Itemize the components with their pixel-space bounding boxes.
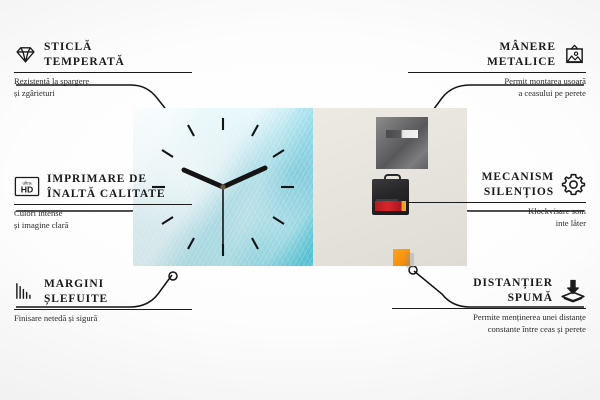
feature-title: MECANISM SILENȚIOS — [482, 170, 554, 199]
feature-header: STICLĂ TEMPERATĂ — [14, 40, 192, 69]
feature-divider — [408, 72, 586, 73]
clock-mechanism — [372, 174, 409, 215]
feature-divider — [14, 309, 192, 310]
feature-header: MÂNERE METALICE — [408, 40, 586, 69]
feature-title: MARGINI ȘLEFUITE — [44, 277, 108, 306]
foam-spacer — [393, 249, 410, 266]
feature-header: MARGINI ȘLEFUITE — [14, 277, 192, 306]
battery — [375, 201, 406, 211]
metal-hanger-plate — [376, 117, 428, 169]
feature-description: Culori intense și imagine clară — [14, 208, 192, 231]
feature-description: Permite menținerea unei distanțe constan… — [392, 312, 586, 335]
feature-tempered-glass: STICLĂ TEMPERATĂ Rezistență la spargere … — [14, 40, 192, 99]
clock-center-cap — [220, 184, 225, 189]
spacer-arrow-icon — [560, 278, 586, 304]
feature-description: Permit montarea ușoară a ceasului pe per… — [408, 76, 586, 99]
feature-divider — [392, 308, 586, 309]
feature-foam-spacer: DISTANȚIER SPUMĂ Permite menținerea unei… — [392, 276, 586, 335]
feature-header: MECANISM SILENȚIOS — [408, 170, 586, 199]
feature-title: MÂNERE METALICE — [487, 40, 556, 69]
polished-edge-icon — [14, 280, 37, 303]
ultra-hd-icon: ultra HD — [14, 176, 40, 197]
feature-hq-printing: ultra HD IMPRIMARE DE ÎNALTĂ CALITATE Cu… — [14, 172, 192, 231]
feature-title: DISTANȚIER SPUMĂ — [473, 276, 553, 305]
feature-header: ultra HD IMPRIMARE DE ÎNALTĂ CALITATE — [14, 172, 192, 201]
picture-hanger-icon — [563, 43, 586, 66]
feature-description: Klockvisare som inte låter — [408, 206, 586, 229]
gear-icon — [561, 172, 586, 197]
feature-title: IMPRIMARE DE ÎNALTĂ CALITATE — [47, 172, 165, 201]
feature-divider — [14, 204, 192, 205]
clock-hour-hand — [223, 168, 265, 187]
diamond-icon — [14, 43, 37, 66]
feature-header: DISTANȚIER SPUMĂ — [392, 276, 586, 305]
feature-title: STICLĂ TEMPERATĂ — [44, 40, 125, 69]
feature-silent-mechanism: MECANISM SILENȚIOS Klockvisare som inte … — [408, 170, 586, 229]
svg-text:HD: HD — [21, 185, 34, 195]
feature-description: Rezistență la spargere și zgârieturi — [14, 76, 192, 99]
hanger-slot — [386, 130, 418, 138]
feature-divider — [14, 72, 192, 73]
feature-description: Finisare netedă și sigură — [14, 313, 192, 325]
product-feature-infographic: STICLĂ TEMPERATĂ Rezistență la spargere … — [0, 0, 600, 400]
feature-metal-hangers: MÂNERE METALICE Permit montarea ușoară a… — [408, 40, 586, 99]
feature-polished-edges: MARGINI ȘLEFUITE Finisare netedă și sigu… — [14, 277, 192, 325]
feature-divider — [408, 202, 586, 203]
